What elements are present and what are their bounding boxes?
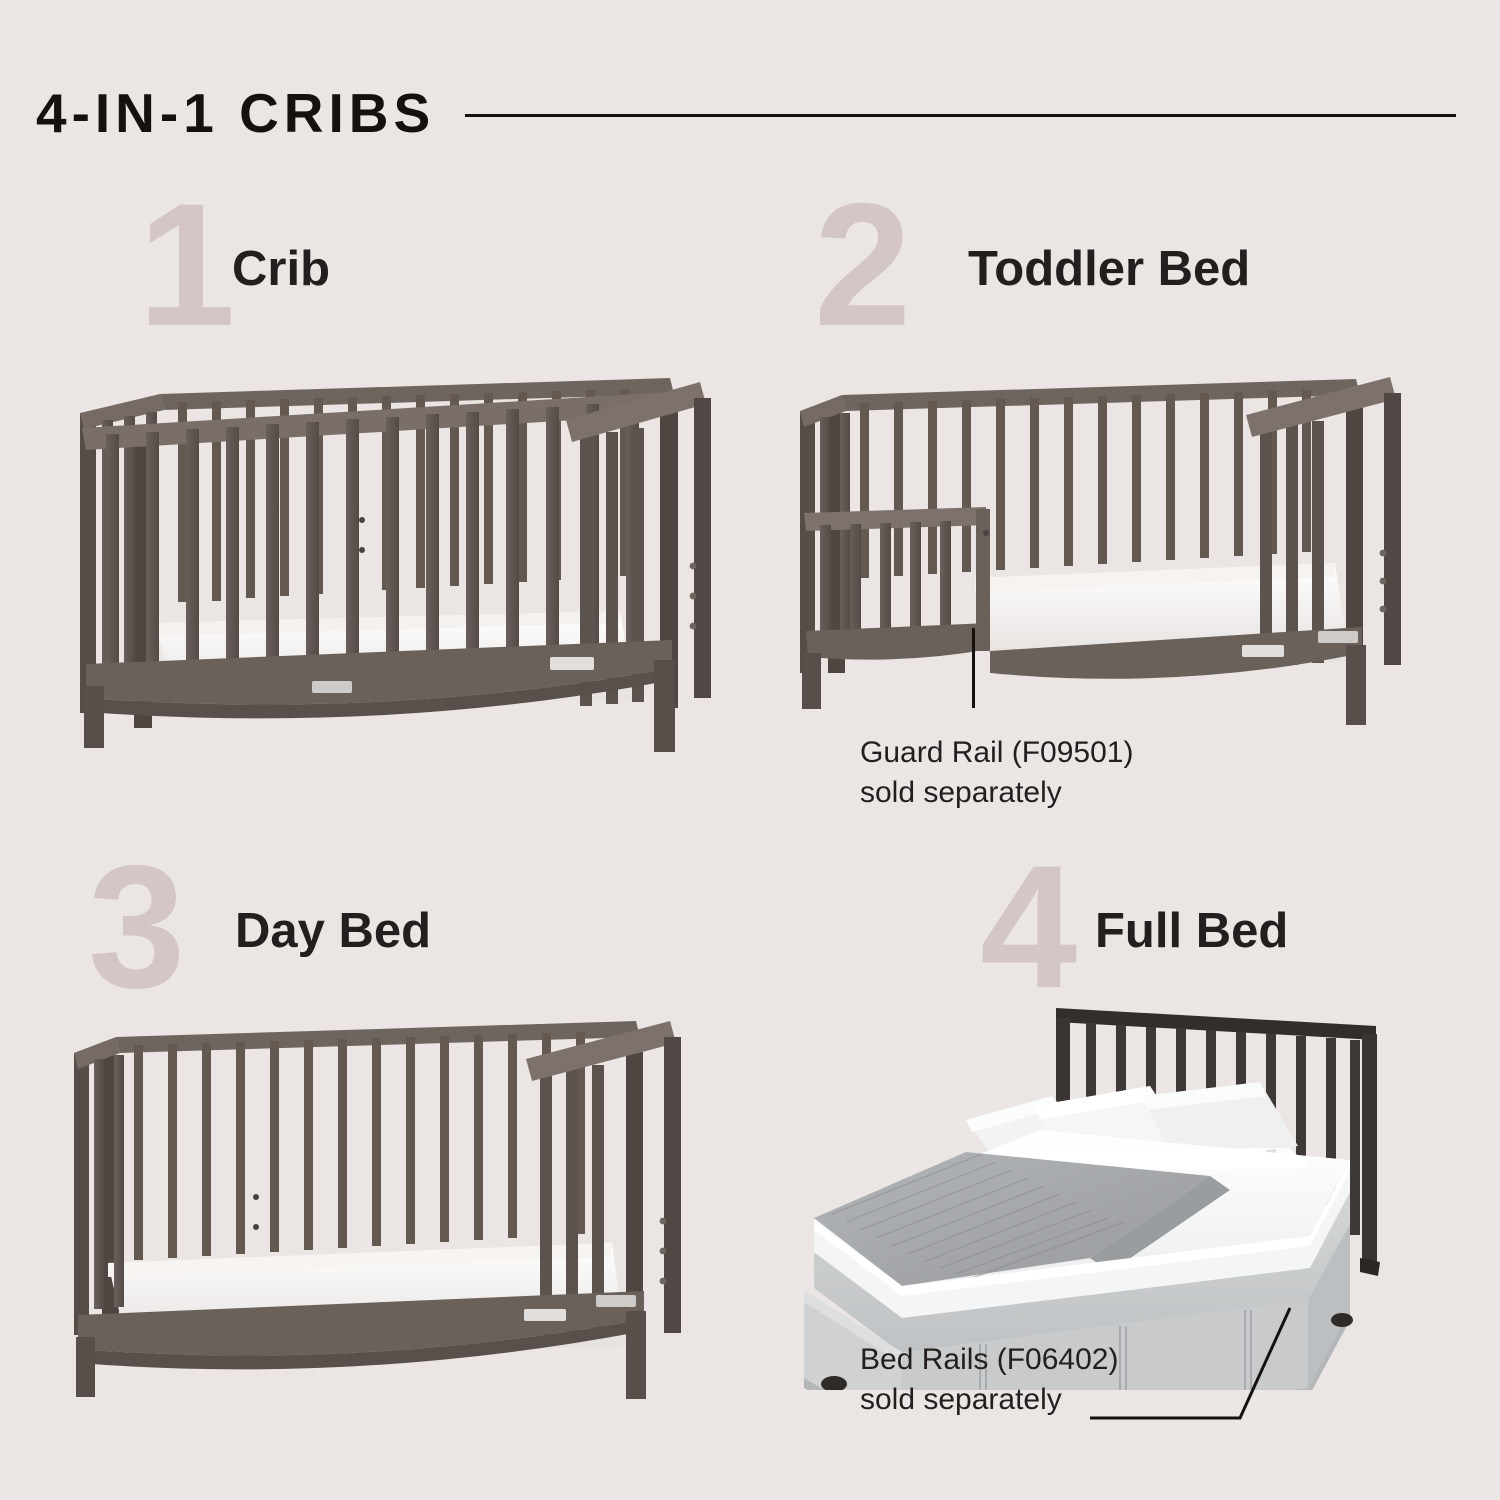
panel-crib: 1 Crib (60, 168, 760, 828)
page-header: 4-IN-1 CRIBS (36, 78, 1456, 148)
panel-full-bed-heading: 4 Full Bed (790, 830, 1480, 1010)
panel-crib-heading: 1 Crib (60, 168, 760, 348)
toddler-bed-illustration (790, 373, 1480, 753)
panel-day-bed-heading: 3 Day Bed (60, 830, 760, 1010)
step-number-4: 4 (980, 840, 1077, 1015)
panel-toddler-bed: 2 Toddler Bed (790, 168, 1480, 828)
step-number-1: 1 (138, 178, 235, 353)
guard-rail-callout: Guard Rail (F09501) sold separately (860, 733, 1133, 812)
step-label-toddler-bed: Toddler Bed (968, 245, 1250, 294)
page-title: 4-IN-1 CRIBS (36, 86, 435, 141)
panel-full-bed: 4 Full Bed (790, 830, 1480, 1490)
step-label-full-bed: Full Bed (1095, 907, 1288, 956)
infographic-page: 4-IN-1 CRIBS 1 Crib (0, 0, 1500, 1500)
guard-rail-leader-line (972, 628, 975, 708)
day-bed-illustration (60, 1015, 760, 1435)
header-divider-rule (465, 114, 1456, 117)
crib-illustration (60, 368, 760, 798)
panel-day-bed: 3 Day Bed (60, 830, 760, 1490)
step-number-3: 3 (88, 840, 185, 1015)
step-label-crib: Crib (232, 245, 330, 294)
step-label-day-bed: Day Bed (235, 907, 431, 956)
bed-rails-callout: Bed Rails (F06402) sold separately (860, 1340, 1118, 1419)
step-number-2: 2 (814, 178, 911, 353)
bed-rails-leader-line (1090, 1300, 1420, 1425)
panel-toddler-bed-heading: 2 Toddler Bed (790, 168, 1480, 348)
